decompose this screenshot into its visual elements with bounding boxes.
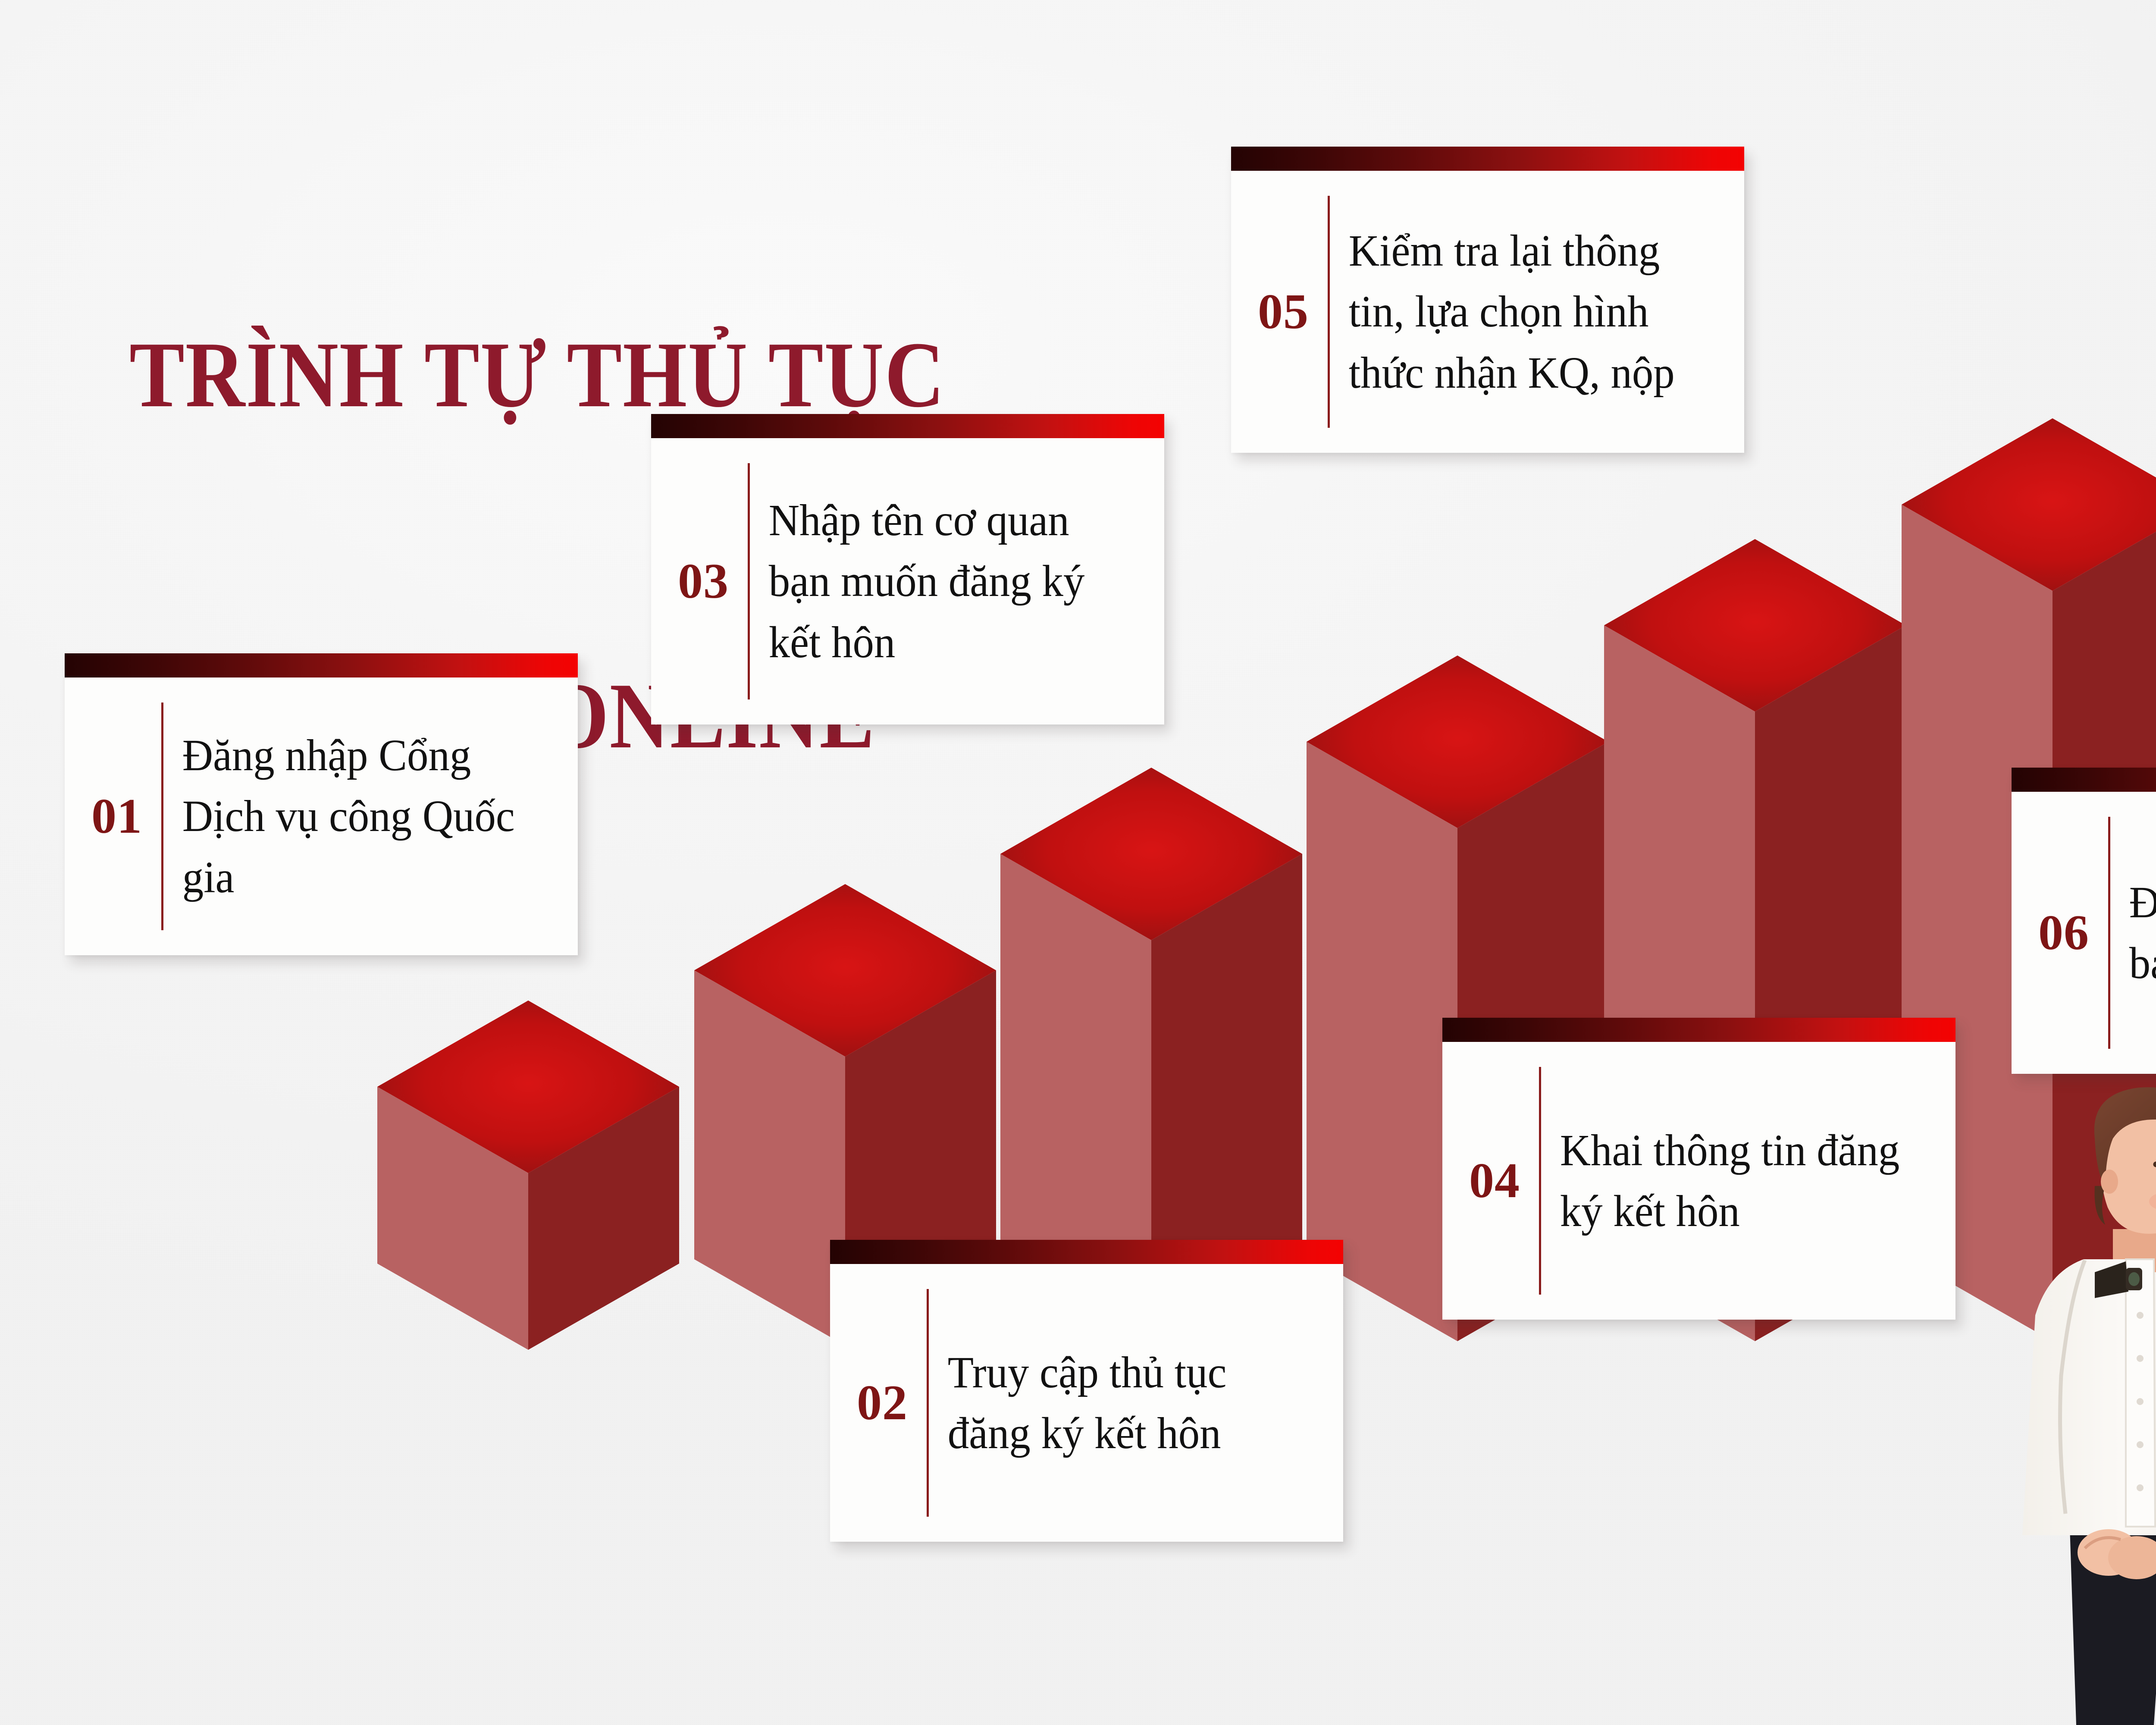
step-number-1: 01 [91, 791, 161, 841]
card-gradient-bar-2 [830, 1240, 1343, 1264]
card-body-3: 03 Nhập tên cơ quan bạn muốn đăng ký kết… [651, 438, 1164, 724]
step-card-4[interactable]: 04 Khai thông tin đăng ký kết hôn [1442, 1018, 1955, 1320]
wedding-couple-illustration [1984, 1057, 2156, 1725]
step-text-4: Khai thông tin đăng ký kết hôn [1541, 1120, 1916, 1242]
card-body-1: 01 Đăng nhập Cổng Dịch vụ công Quốc gia [65, 677, 578, 955]
step-card-2[interactable]: 02 Truy cập thủ tục đăng ký kết hôn [830, 1240, 1343, 1542]
step-text-1: Đăng nhập Cổng Dịch vụ công Quốc gia [163, 725, 538, 908]
card-gradient-bar-6 [2012, 768, 2156, 792]
step-card-3[interactable]: 03 Nhập tên cơ quan bạn muốn đăng ký kết… [651, 414, 1164, 724]
step-text-2: Truy cập thủ tục đăng ký kết hôn [929, 1342, 1304, 1464]
step-number-2: 02 [857, 1378, 927, 1428]
card-body-4: 04 Khai thông tin đăng ký kết hôn [1442, 1042, 1955, 1320]
step-card-6[interactable]: 06 Đến trực tiếp Ủy ban nhân dân cấp xã [2012, 768, 2156, 1074]
groom-figure [2022, 1087, 2156, 1725]
step-card-1[interactable]: 01 Đăng nhập Cổng Dịch vụ công Quốc gia [65, 653, 578, 955]
card-body-5: 05 Kiểm tra lại thông tin, lựa chọn hình… [1231, 171, 1744, 453]
step-number-5: 05 [1258, 287, 1328, 337]
card-gradient-bar-3 [651, 414, 1164, 438]
card-body-6: 06 Đến trực tiếp Ủy ban nhân dân cấp xã [2012, 792, 2156, 1074]
step-number-3: 03 [678, 556, 748, 606]
step-block-1 [373, 992, 683, 1371]
card-body-2: 02 Truy cập thủ tục đăng ký kết hôn [830, 1264, 1343, 1542]
step-card-5[interactable]: 05 Kiểm tra lại thông tin, lựa chọn hình… [1231, 147, 1744, 453]
step-text-6: Đến trực tiếp Ủy ban nhân dân cấp xã [2110, 872, 2156, 994]
card-gradient-bar-1 [65, 653, 578, 677]
step-number-6: 06 [2038, 908, 2108, 958]
card-gradient-bar-5 [1231, 147, 1744, 171]
card-gradient-bar-4 [1442, 1018, 1955, 1042]
step-text-5: Kiểm tra lại thông tin, lựa chọn hình th… [1330, 220, 1705, 403]
step-text-3: Nhập tên cơ quan bạn muốn đăng ký kết hô… [750, 490, 1125, 673]
infographic-canvas: TRÌNH TỰ THỦ TỤC ĐĂNG KÝ ONLINE [0, 0, 2156, 1725]
step-number-4: 04 [1469, 1156, 1539, 1206]
